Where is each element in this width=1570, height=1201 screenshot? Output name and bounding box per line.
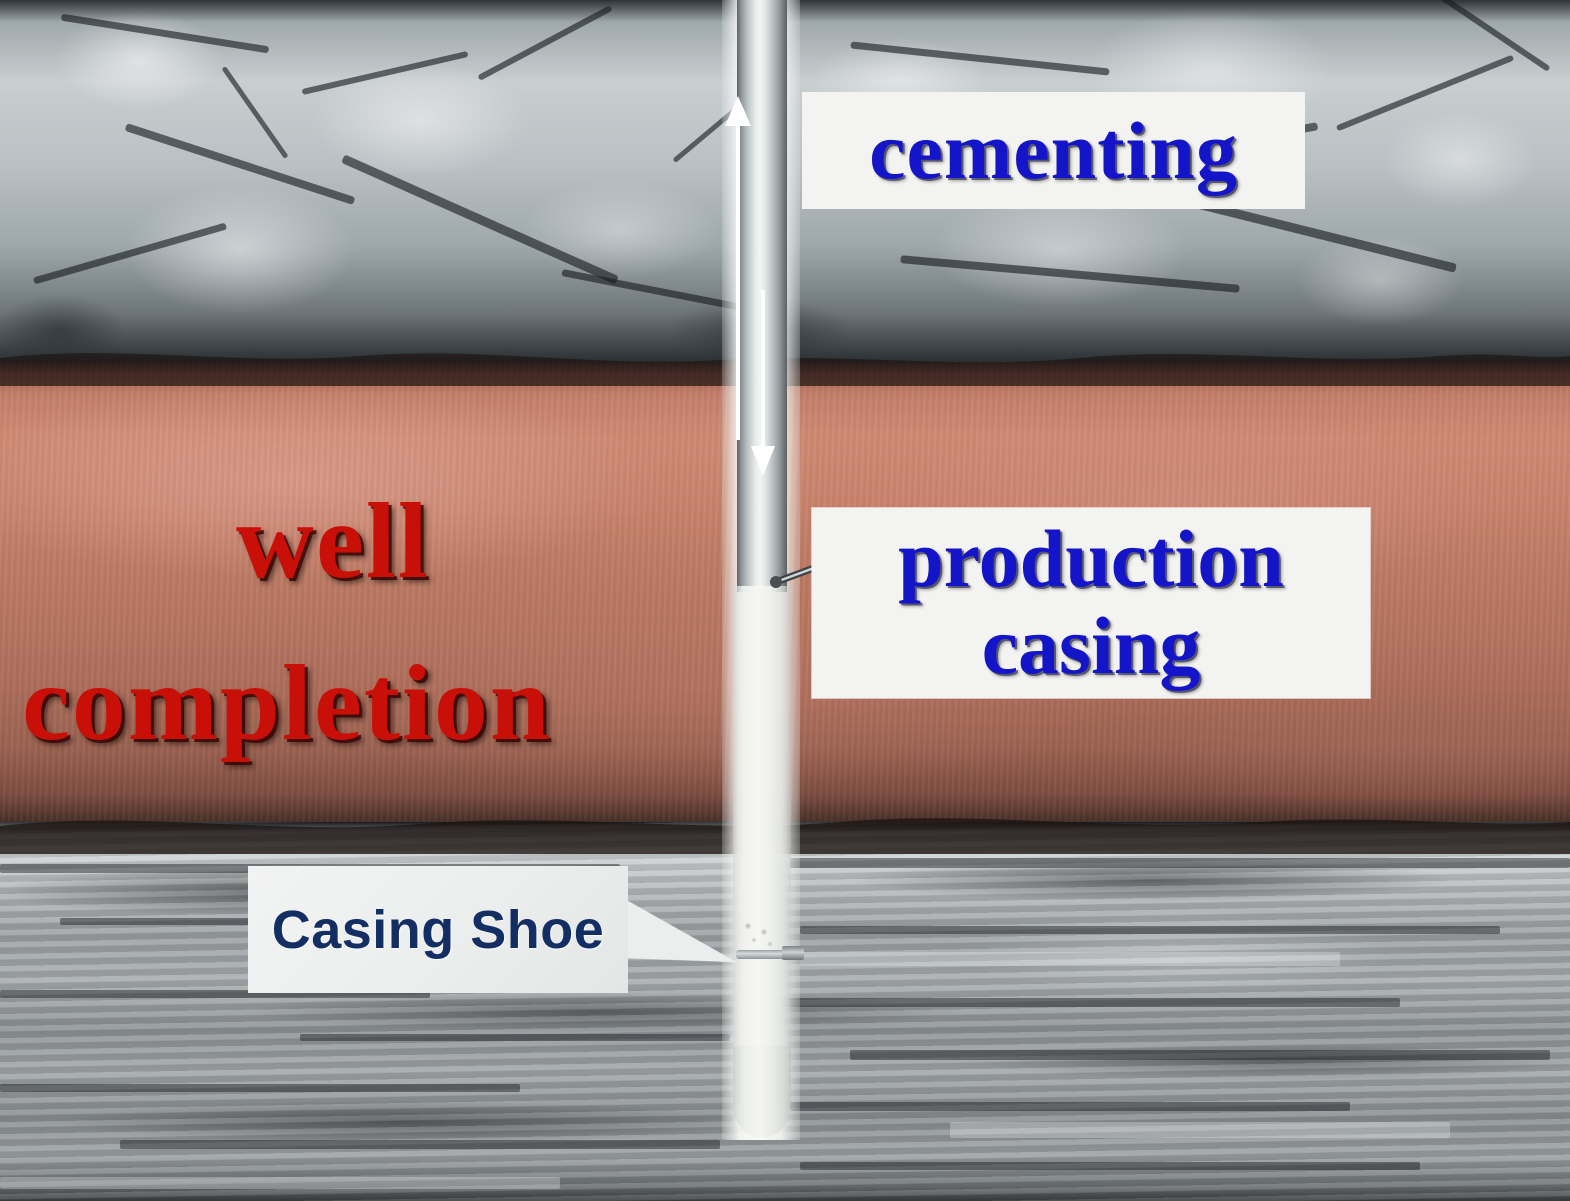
cement-plug-bottom bbox=[733, 1046, 791, 1138]
callout-casing-shoe-text: Casing Shoe bbox=[272, 899, 605, 961]
cement-column bbox=[733, 586, 791, 1106]
well-completion-diagram: cementing production casing Casing Shoe … bbox=[0, 0, 1570, 1201]
casing-shoe-nub bbox=[782, 946, 804, 960]
overlay-title-line1: well bbox=[236, 488, 430, 596]
label-cementing[interactable]: cementing bbox=[802, 92, 1305, 209]
casing-shoe-collar bbox=[736, 950, 788, 959]
label-production-casing-line1: production bbox=[898, 516, 1284, 603]
cement-pump-down-arrow bbox=[744, 290, 788, 480]
overlay-title-line2: completion bbox=[22, 650, 552, 758]
label-production-casing-line2: casing bbox=[982, 603, 1201, 690]
label-cementing-text: cementing bbox=[869, 110, 1238, 192]
casing-shoe-callout-tail bbox=[626, 900, 736, 972]
label-production-casing[interactable]: production casing bbox=[812, 508, 1370, 698]
callout-casing-shoe[interactable]: Casing Shoe bbox=[248, 866, 628, 993]
